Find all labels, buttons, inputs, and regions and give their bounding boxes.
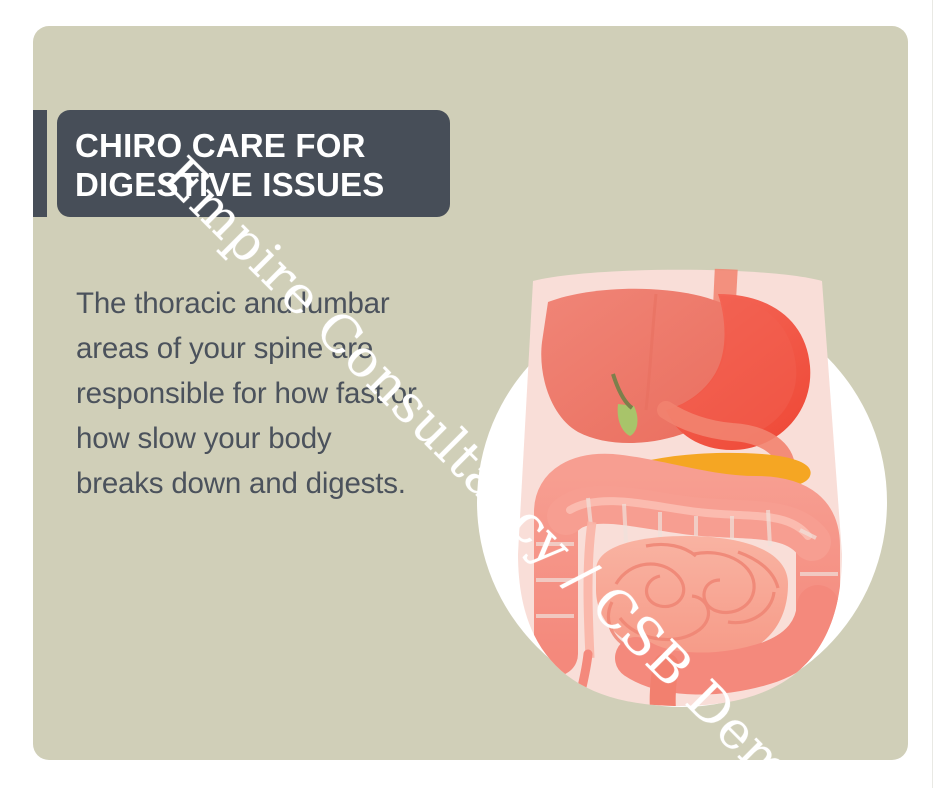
body-paragraph: The thoracic and lumbar areas of your sp… <box>76 281 426 506</box>
rectum <box>663 666 666 714</box>
slide-card: CHIRO CARE FOR DIGESTIVE ISSUES The thor… <box>33 26 908 760</box>
page-edge-divider <box>932 0 933 788</box>
heading-box: CHIRO CARE FOR DIGESTIVE ISSUES <box>57 110 450 217</box>
slide-viewport: CHIRO CARE FOR DIGESTIVE ISSUES The thor… <box>0 0 940 788</box>
heading-accent-bar <box>33 110 47 217</box>
digestive-system-illustration <box>470 254 890 714</box>
page-title: CHIRO CARE FOR DIGESTIVE ISSUES <box>75 126 430 204</box>
ascending-colon-inner <box>588 522 592 658</box>
